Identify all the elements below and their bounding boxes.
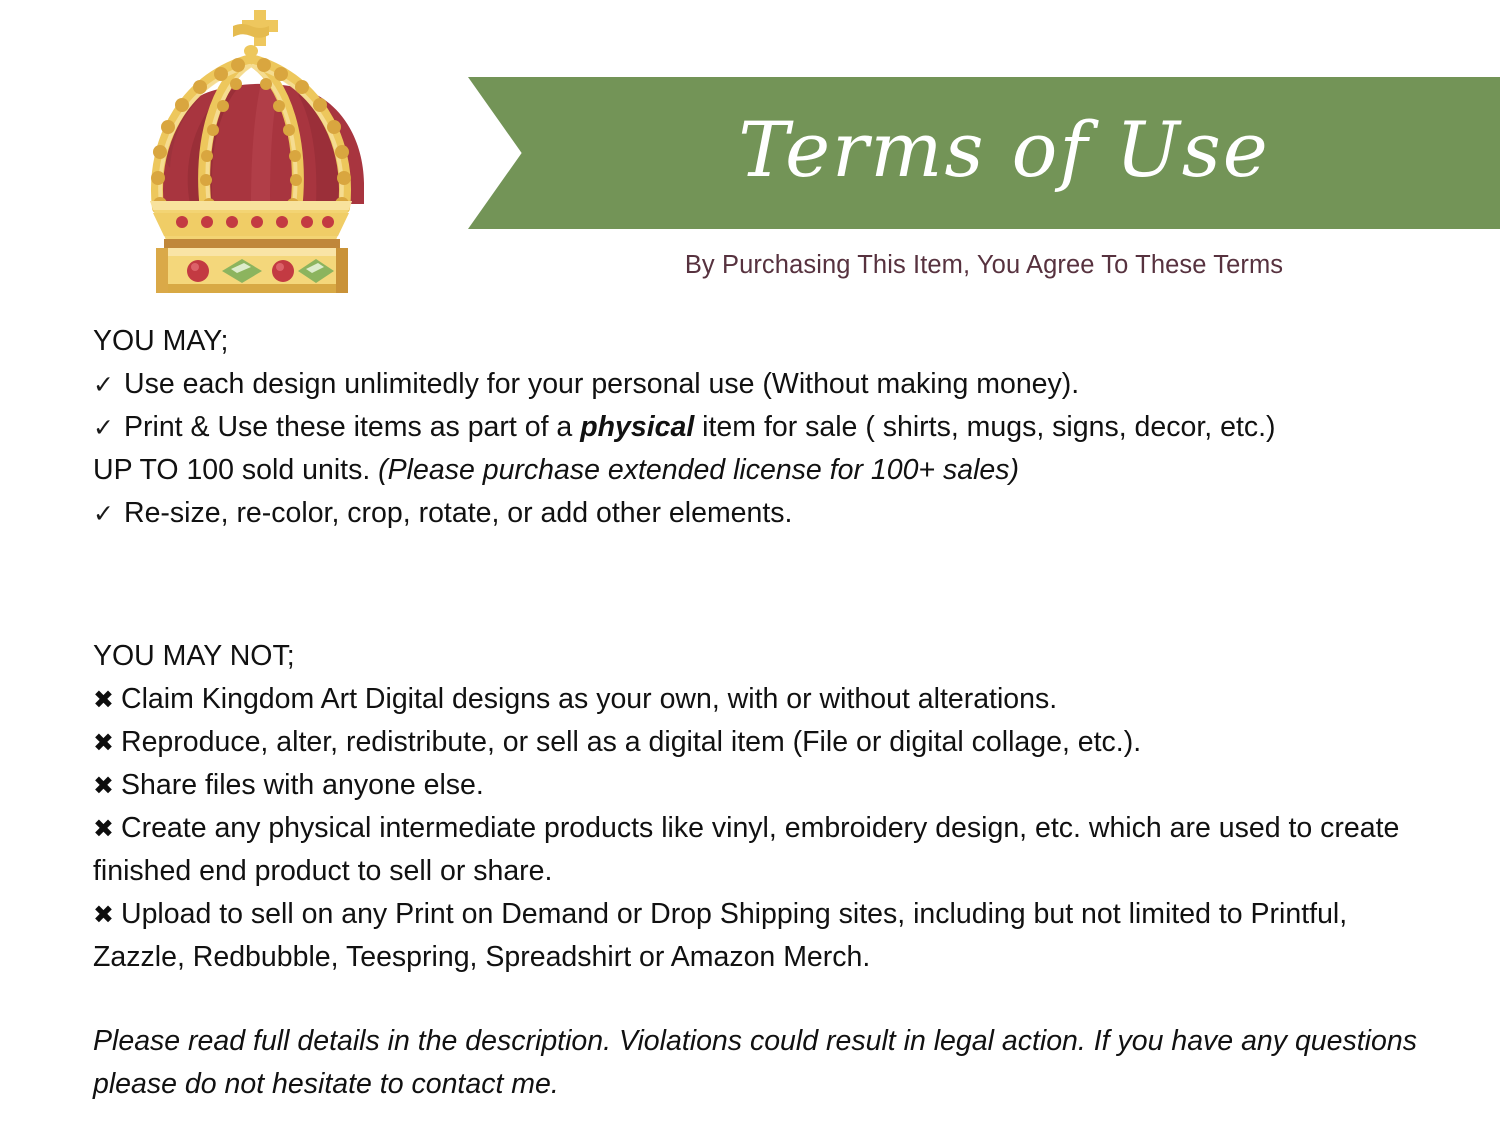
term-text: Re-size, re-color, crop, rotate, or add …: [124, 497, 792, 529]
crown-cross-finial: [233, 10, 278, 57]
section-spacer: [93, 535, 1423, 635]
header-subtitle: By Purchasing This Item, You Agree To Th…: [468, 251, 1500, 280]
you-may-not-item: ✖Create any physical intermediate produc…: [93, 807, 1423, 893]
term-text: Use each design unlimitedly for your per…: [124, 368, 1079, 400]
term-text: UP TO 100 sold units.: [93, 454, 378, 486]
you-may-item: ✓Use each design unlimitedly for your pe…: [93, 363, 1423, 406]
you-may-item: UP TO 100 sold units. (Please purchase e…: [93, 449, 1423, 492]
you-may-not-list: ✖Claim Kingdom Art Digital designs as yo…: [93, 678, 1423, 979]
term-text: Reproduce, alter, redistribute, or sell …: [121, 726, 1141, 758]
you-may-item: ✓Re-size, re-color, crop, rotate, or add…: [93, 492, 1423, 535]
you-may-heading: YOU MAY;: [93, 320, 1423, 363]
term-text: Print & Use these items as part of a: [124, 411, 580, 443]
term-text: Claim Kingdom Art Digital designs as you…: [121, 683, 1057, 715]
cross-icon: ✖: [93, 678, 121, 721]
term-text: item for sale ( shirts, mugs, signs, dec…: [694, 411, 1275, 443]
you-may-not-item: ✖Upload to sell on any Print on Demand o…: [93, 893, 1423, 979]
royal-crown-icon: [120, 8, 420, 293]
check-icon: ✓: [93, 406, 124, 449]
footer-spacer: [93, 979, 1423, 1020]
you-may-not-heading: YOU MAY NOT;: [93, 635, 1423, 678]
title-banner: Terms of Use: [468, 77, 1500, 229]
you-may-item: ✓Print & Use these items as part of a ph…: [93, 406, 1423, 449]
you-may-list: ✓Use each design unlimitedly for your pe…: [93, 363, 1423, 535]
check-icon: ✓: [93, 363, 124, 406]
cross-icon: ✖: [93, 764, 121, 807]
emphasis-text: physical: [580, 411, 694, 443]
you-may-not-item: ✖Share files with anyone else.: [93, 764, 1423, 807]
cross-icon: ✖: [93, 721, 121, 764]
check-icon: ✓: [93, 492, 124, 535]
cross-icon: ✖: [93, 807, 121, 850]
terms-content: YOU MAY; ✓Use each design unlimitedly fo…: [93, 320, 1423, 1106]
page-title: Terms of Use: [698, 112, 1269, 194]
term-text: Create any physical intermediate product…: [93, 812, 1399, 887]
cross-icon: ✖: [93, 893, 121, 936]
you-may-not-item: ✖Reproduce, alter, redistribute, or sell…: [93, 721, 1423, 764]
footer-note: Please read full details in the descript…: [93, 1020, 1423, 1106]
term-text: Share files with anyone else.: [121, 769, 484, 801]
you-may-not-item: ✖Claim Kingdom Art Digital designs as yo…: [93, 678, 1423, 721]
italic-note: (Please purchase extended license for 10…: [378, 454, 1019, 486]
page-header: Terms of Use By Purchasing This Item, Yo…: [0, 0, 1500, 300]
term-text: Upload to sell on any Print on Demand or…: [93, 898, 1347, 973]
